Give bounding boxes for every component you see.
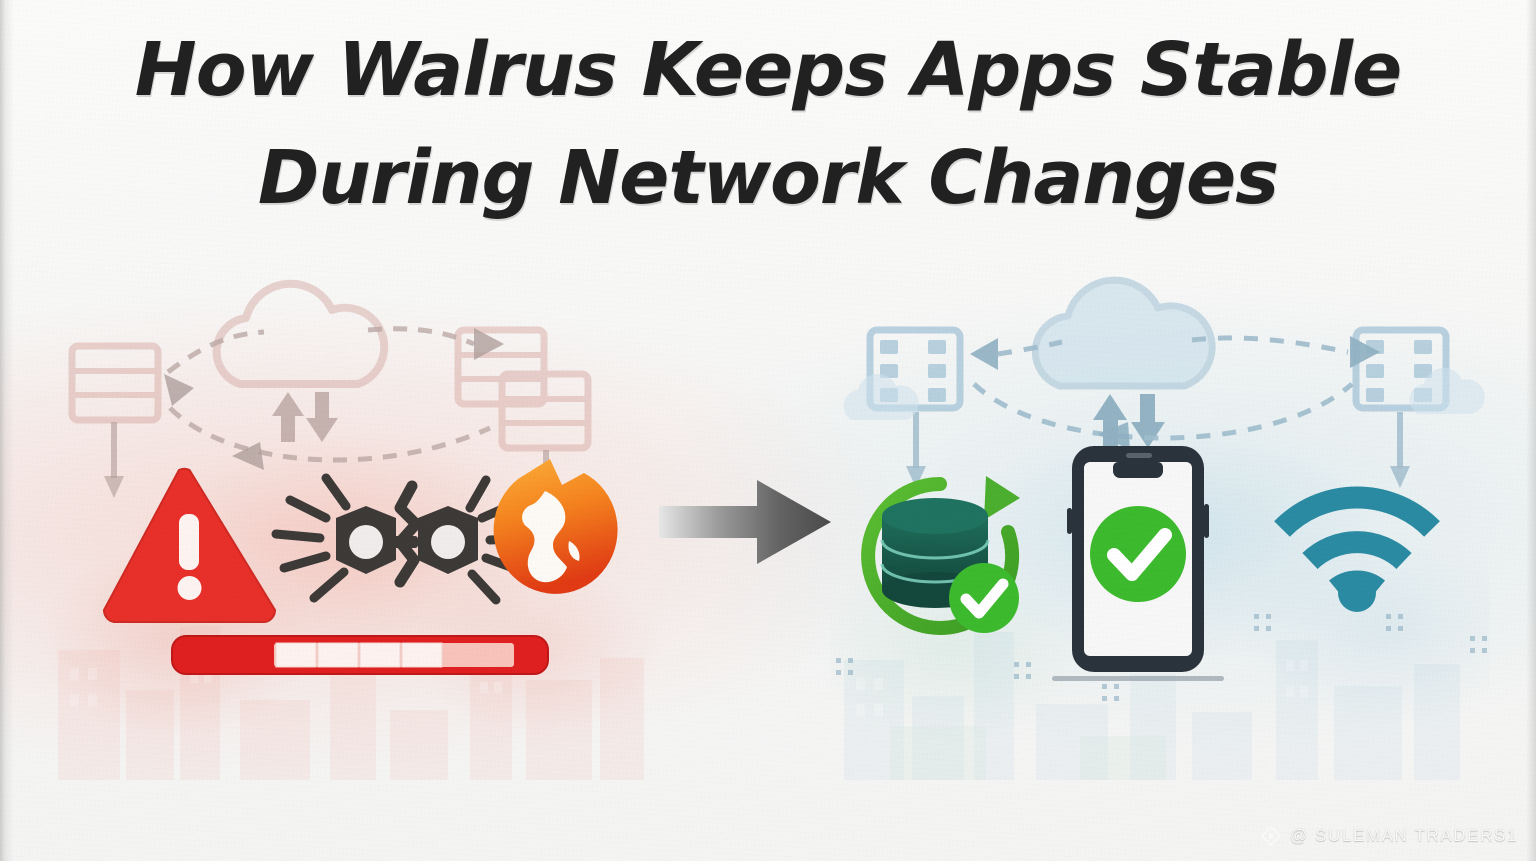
transition-arrow-icon <box>655 472 835 572</box>
watermark-text: @ SULEMAN TRADERS1 <box>1290 826 1518 846</box>
diamond-sparkle-icon <box>1260 825 1282 847</box>
server-rack-left-icon <box>72 346 158 420</box>
fire-outage-icon <box>483 455 618 595</box>
page-title: How Walrus Keeps Apps Stable During Netw… <box>0 16 1536 232</box>
database-refresh-check-icon <box>840 470 1040 645</box>
poster-canvas: How Walrus Keeps Apps Stable During Netw… <box>0 0 1536 861</box>
watermark: @ SULEMAN TRADERS1 <box>1260 825 1518 847</box>
right-panel-stable: Data Recovery App Stable <box>830 280 1490 780</box>
check-badge-icon <box>949 563 1019 633</box>
cloud-icon <box>1035 280 1212 386</box>
title-line-1: How Walrus Keeps Apps Stable <box>0 16 1536 124</box>
wifi-icon <box>1272 475 1442 610</box>
check-circle-icon <box>1090 506 1186 602</box>
title-line-2: During Network Changes <box>0 124 1536 232</box>
sync-arrows-icon <box>272 392 338 442</box>
smartphone-check-icon <box>1052 442 1224 692</box>
left-panel-downtime: Downtime <box>40 280 660 780</box>
downtime-progress-bar[interactable] <box>170 632 550 678</box>
impact-rays-left <box>276 478 346 598</box>
